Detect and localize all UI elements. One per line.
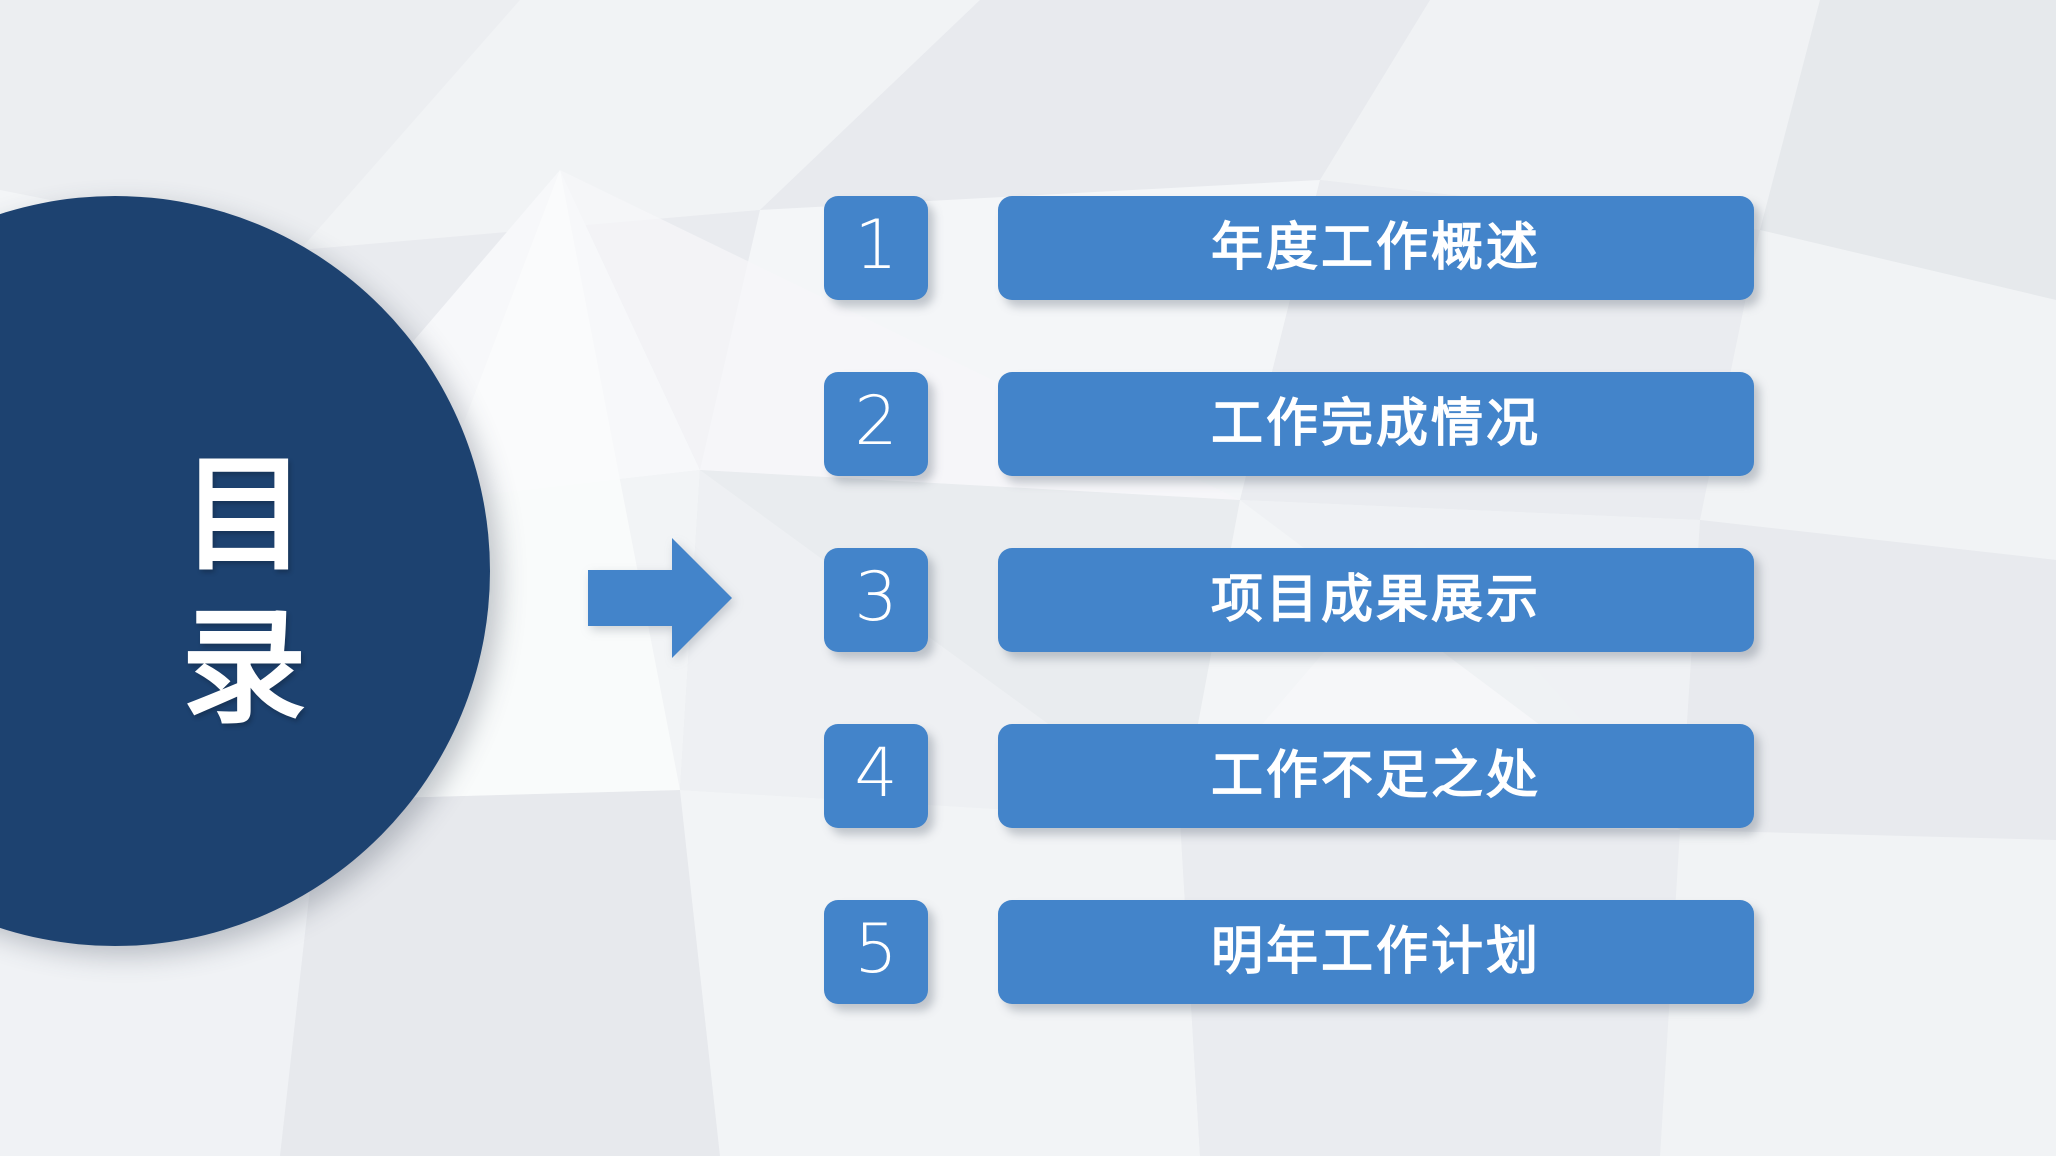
presentation-slide: 目 录 1 年度工作概述 2 工作完成情况 3 项目成果展示 4 工: [0, 0, 2056, 1156]
toc-item-label: 明年工作计划: [1211, 926, 1541, 978]
toc-title-bar[interactable]: 项目成果展示: [998, 548, 1754, 652]
toc-item-label: 工作完成情况: [1211, 398, 1541, 450]
toc-item-5[interactable]: 5 明年工作计划: [824, 900, 1754, 1004]
toc-item-1[interactable]: 1 年度工作概述: [824, 196, 1754, 300]
toc-number-badge[interactable]: 3: [824, 548, 928, 652]
toc-title-bar[interactable]: 明年工作计划: [998, 900, 1754, 1004]
toc-item-label: 项目成果展示: [1211, 574, 1541, 626]
toc-number-badge[interactable]: 5: [824, 900, 928, 1004]
toc-title-bar[interactable]: 工作不足之处: [998, 724, 1754, 828]
toc-item-label: 工作不足之处: [1211, 750, 1541, 802]
toc-item-label: 年度工作概述: [1211, 222, 1541, 274]
arrow-right-icon: [588, 538, 732, 658]
toc-number-badge[interactable]: 2: [824, 372, 928, 476]
toc-title-bar[interactable]: 工作完成情况: [998, 372, 1754, 476]
toc-item-3[interactable]: 3 项目成果展示: [824, 548, 1754, 652]
toc-item-4[interactable]: 4 工作不足之处: [824, 724, 1754, 828]
toc-number-badge[interactable]: 4: [824, 724, 928, 828]
toc-list: 1 年度工作概述 2 工作完成情况 3 项目成果展示 4 工作不足之处 5: [824, 196, 1754, 1004]
page-title: 目 录: [150, 440, 340, 745]
toc-item-2[interactable]: 2 工作完成情况: [824, 372, 1754, 476]
toc-title-bar[interactable]: 年度工作概述: [998, 196, 1754, 300]
toc-number-badge[interactable]: 1: [824, 196, 928, 300]
